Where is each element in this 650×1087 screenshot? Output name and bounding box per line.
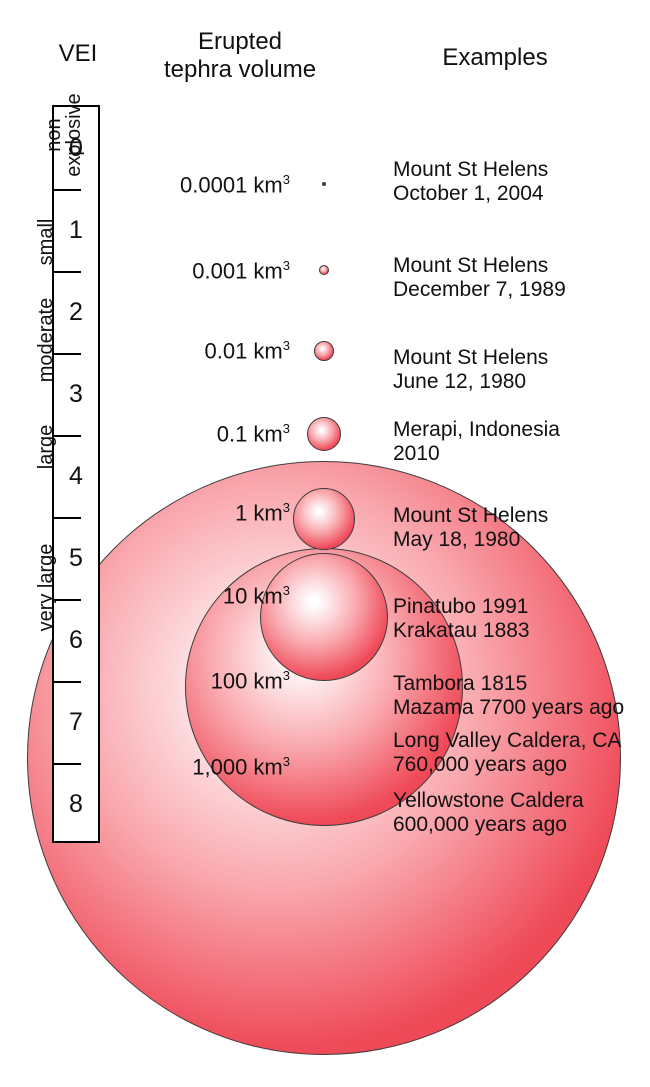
volume-exponent: 3 [283,338,290,353]
example-label: Mount St Helens October 1, 2004 [393,158,646,206]
vei-level-number: 7 [54,681,98,763]
vei-level-number: 2 [54,271,98,353]
volume-exponent: 3 [283,668,290,683]
vei-level-8[interactable]: 8 [54,763,98,845]
vei-level-5[interactable]: 5 [54,517,98,599]
volume-exponent: 3 [283,172,290,187]
vei-level-number: 4 [54,435,98,517]
header-examples: Examples [370,44,620,72]
example-label: Long Valley Caldera, CA 760,000 years ag… [393,729,646,777]
example-label: Merapi, Indonesia 2010 [393,418,646,466]
header-vei: VEI [34,40,122,68]
tephra-volume-sphere [307,417,341,451]
volume-exponent: 3 [283,258,290,273]
vei-diagram: VEI Erupted tephra volume Examples 01234… [0,0,650,1087]
example-label: Mount St Helens June 12, 1980 [393,346,646,394]
vei-level-number: 6 [54,599,98,681]
header-erupted-tephra-volume: Erupted tephra volume [120,28,360,85]
vei-level-4[interactable]: 4 [54,435,98,517]
tephra-volume-sphere [322,182,326,186]
tephra-volume-sphere [260,553,388,681]
severity-label-non-explosive: non explosive [44,92,85,178]
vei-level-7[interactable]: 7 [54,681,98,763]
severity-label-small: small [36,207,56,277]
vei-level-2[interactable]: 2 [54,271,98,353]
example-label: Tambora 1815 Mazama 7700 years ago [393,672,646,720]
vei-scale-box: 012345678 [52,105,100,843]
volume-exponent: 3 [283,754,290,769]
example-label: Mount St Helens December 7, 1989 [393,254,646,302]
volume-exponent: 3 [283,583,290,598]
vei-level-number: 3 [54,353,98,435]
vei-level-number: 1 [54,189,98,271]
example-label: Pinatubo 1991 Krakatau 1883 [393,595,646,643]
tephra-volume-sphere [293,488,355,550]
example-label: Yellowstone Caldera 600,000 years ago [393,789,646,837]
vei-level-number: 8 [54,763,98,845]
severity-label-moderate: moderate [36,285,56,395]
volume-exponent: 3 [283,421,290,436]
vei-level-1[interactable]: 1 [54,189,98,271]
severity-label-very-large: very large [36,525,56,650]
volume-exponent: 3 [283,500,290,515]
vei-level-number: 5 [54,517,98,599]
vei-level-3[interactable]: 3 [54,353,98,435]
tephra-volume-sphere [314,341,334,361]
severity-label-large: large [36,414,56,480]
tephra-volume-sphere [319,265,329,275]
vei-level-6[interactable]: 6 [54,599,98,681]
example-label: Mount St Helens May 18, 1980 [393,504,646,552]
